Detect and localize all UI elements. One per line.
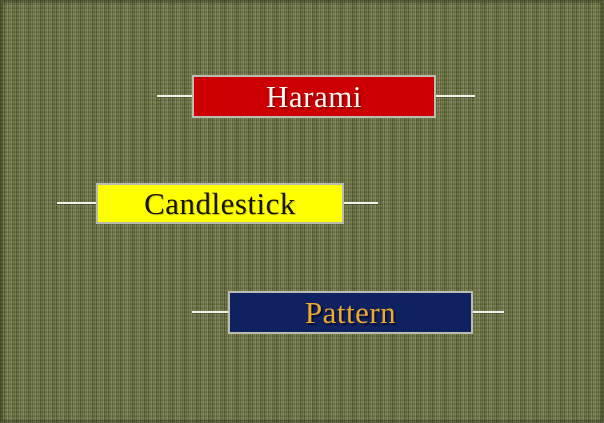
label-text-harami: Harami — [266, 81, 362, 112]
label-box-pattern[interactable]: Pattern — [228, 291, 473, 334]
connector-line-harami-right — [434, 95, 475, 97]
connector-line-harami-left — [157, 95, 194, 97]
slide-canvas: Harami Candlestick Pattern — [0, 0, 604, 423]
connector-line-pattern-right — [471, 311, 504, 313]
connector-line-candlestick-right — [342, 202, 378, 204]
label-box-harami[interactable]: Harami — [192, 75, 436, 118]
label-box-candlestick[interactable]: Candlestick — [96, 183, 344, 224]
label-text-candlestick: Candlestick — [144, 188, 296, 219]
connector-line-pattern-left — [192, 311, 230, 313]
label-text-pattern: Pattern — [305, 297, 396, 328]
connector-line-candlestick-left — [57, 202, 98, 204]
